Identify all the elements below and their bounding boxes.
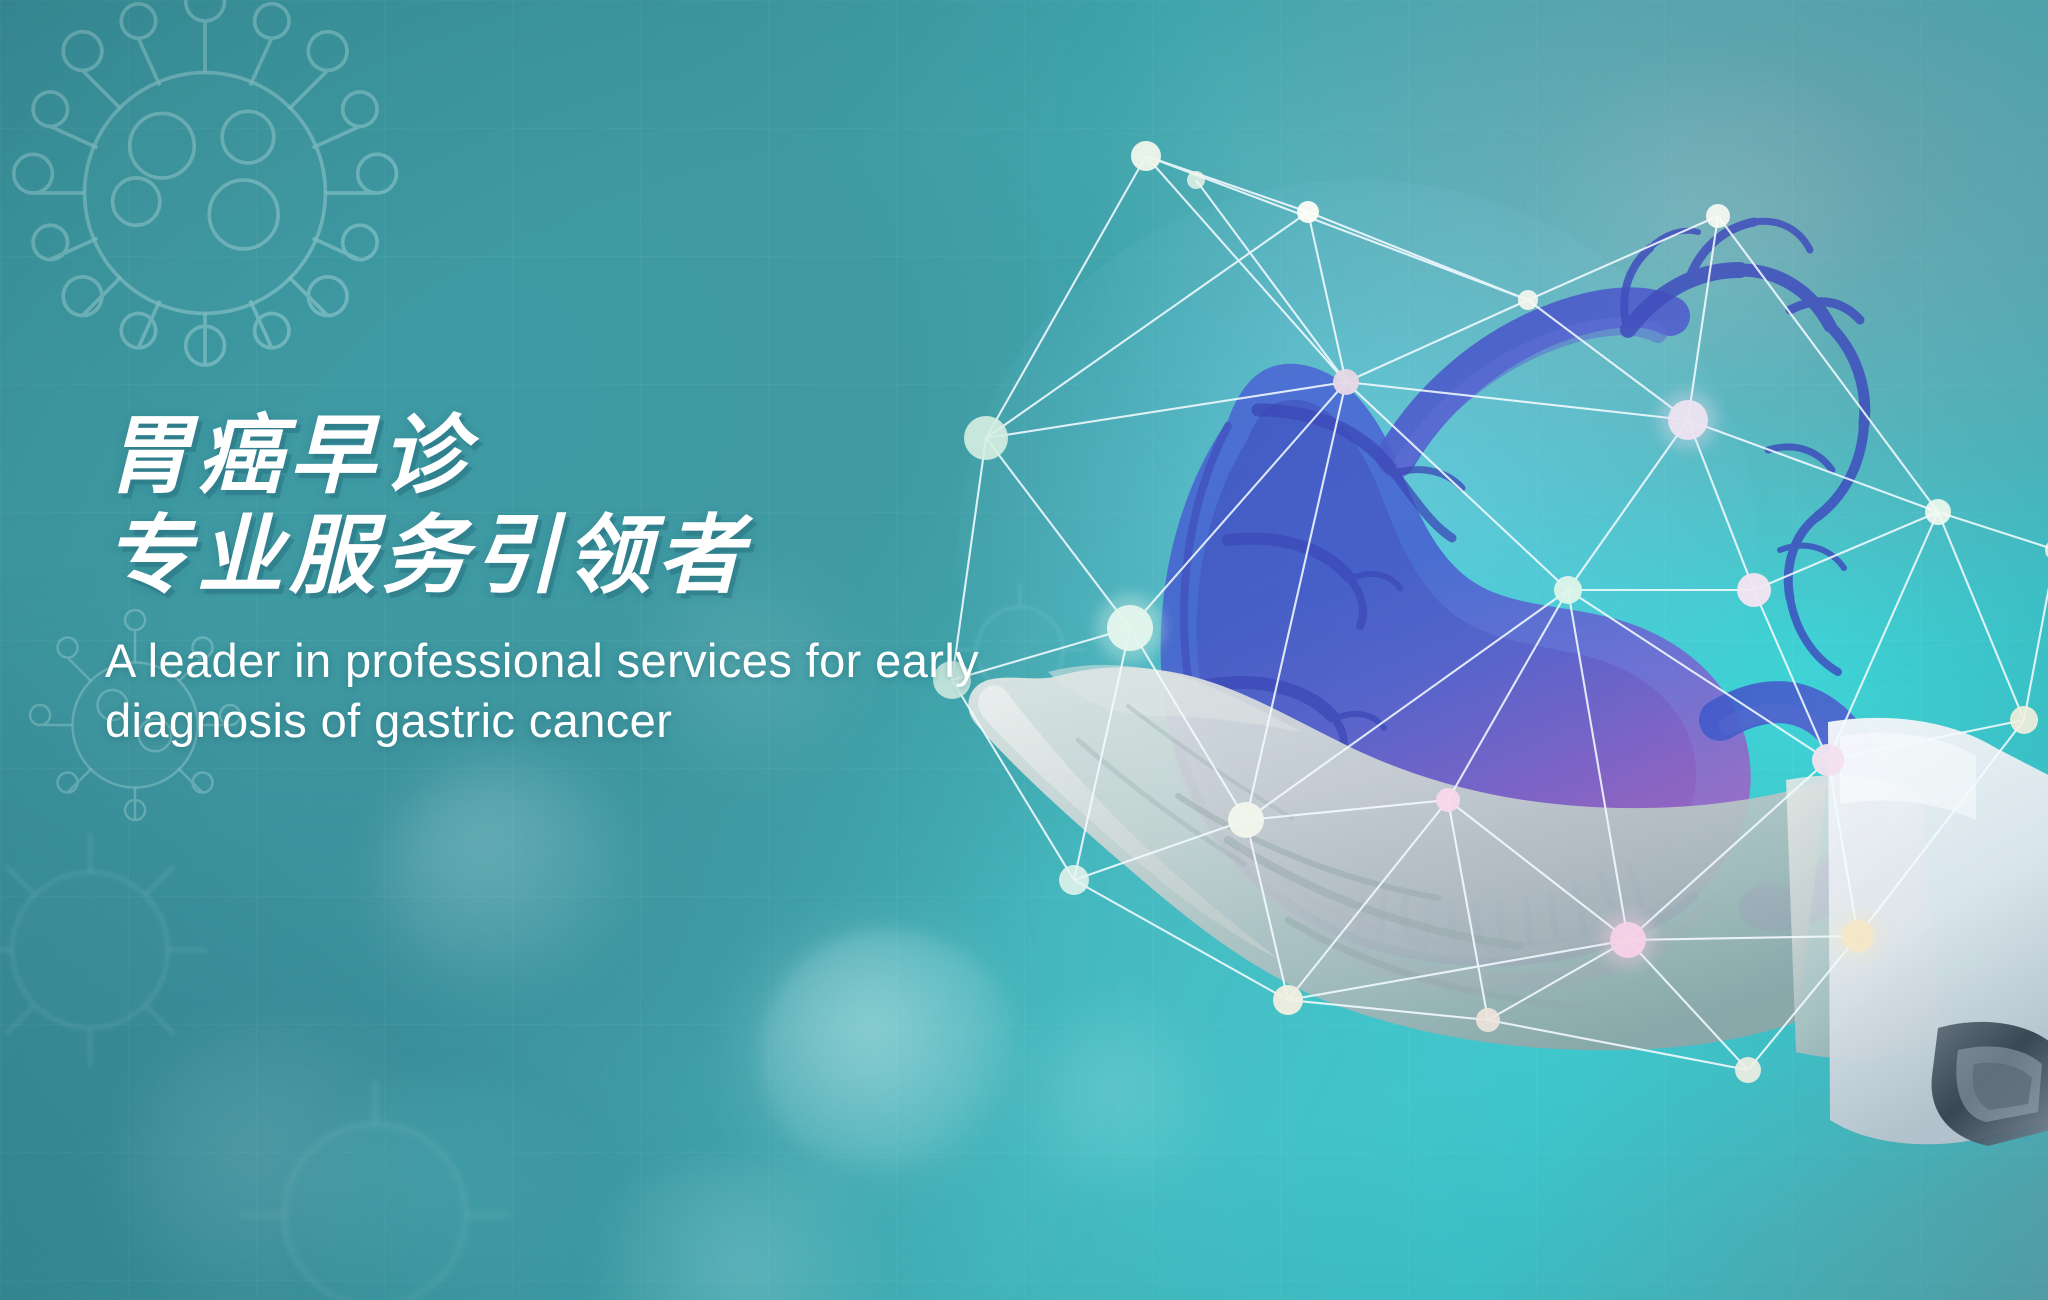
subhead-line-2: diagnosis of gastric cancer (105, 691, 1115, 751)
subhead-line-1: A leader in professional services for ea… (105, 631, 1115, 691)
hero-banner: 胃癌早诊 专业服务引领者 A leader in professional se… (0, 0, 2048, 1300)
headline-line-1: 胃癌早诊 (105, 408, 1165, 504)
hero-copy-block: 胃癌早诊 专业服务引领者 A leader in professional se… (105, 408, 1165, 751)
headline-line-2: 专业服务引领者 (105, 508, 1165, 604)
